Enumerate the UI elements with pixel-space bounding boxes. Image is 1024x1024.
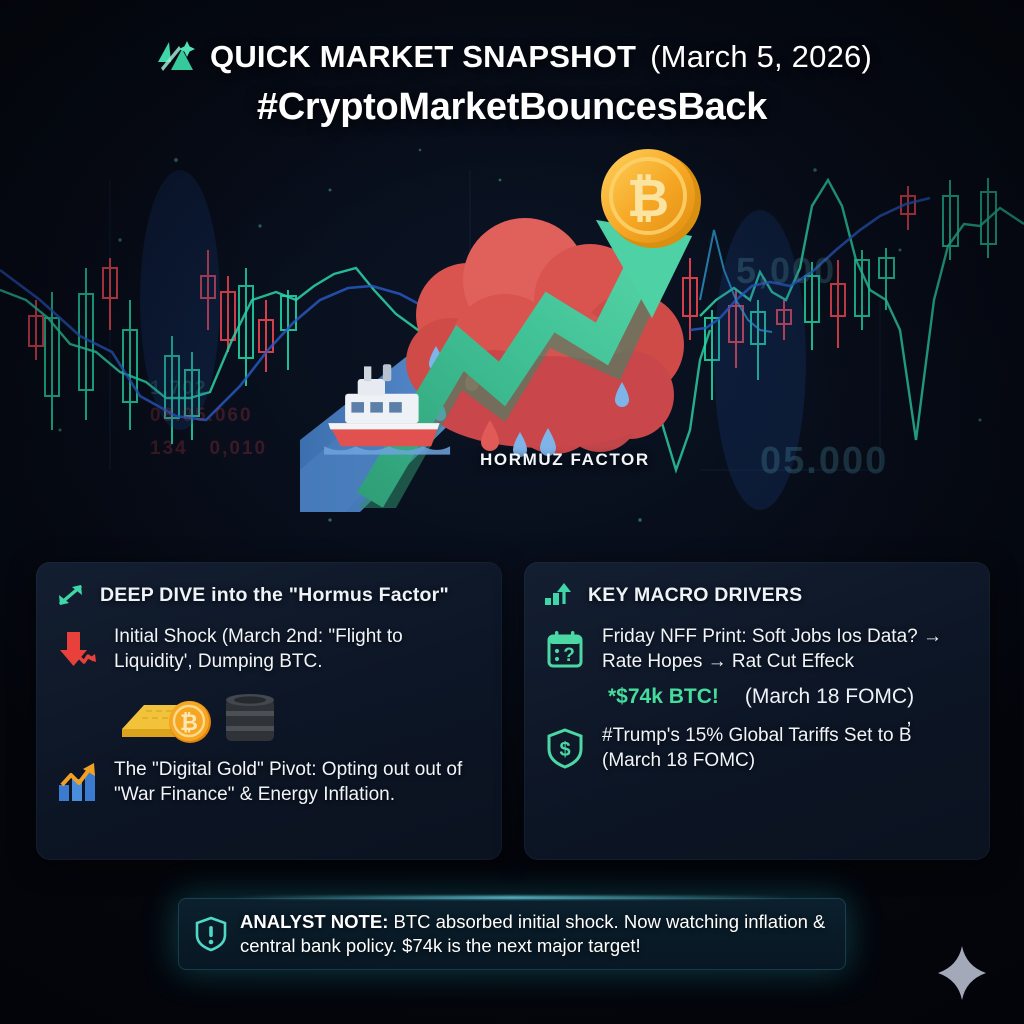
shield-dollar-icon: $ (542, 725, 588, 771)
analyst-note-label: ANALYST NOTE: (240, 911, 388, 932)
header: QUICK MARKET SNAPSHOT (March 5, 2026) #C… (0, 34, 1024, 129)
gold-bitcoin-oil-barrel-icon: ₿ (116, 685, 482, 743)
btc-target-value: *$74k BTC! (608, 685, 719, 709)
hero-illustration: ₿ (300, 140, 720, 540)
analyst-note-text: ANALYST NOTE: BTC absorbed initial shock… (240, 910, 830, 958)
calendar-question-icon: ? (542, 626, 588, 672)
diagonal-double-arrow-icon (54, 580, 88, 610)
bullet-text: Initial Shock (March 2nd: "Flight to Liq… (114, 624, 482, 675)
hashtag: #CryptoMarketBouncesBack (0, 86, 1024, 129)
snapshot-date: (March 5, 2026) (650, 39, 872, 75)
panel-header: KEY MACRO DRIVERS (542, 580, 970, 610)
btc-target-highlight: *$74k BTC! (March 18 FOMC) (608, 685, 970, 709)
shield-exclamation-icon (194, 915, 228, 953)
bullet-item: The "Digital Gold" Pivot: Opting out out… (54, 757, 482, 808)
bullet-text: Friday NFF Print: Soft Jobs Ios Data? → … (602, 624, 970, 675)
page-title: QUICK MARKET SNAPSHOT (210, 39, 636, 75)
four-point-star-icon (936, 944, 988, 1002)
fomc-date: (March 18 FOMC) (745, 685, 914, 709)
panel-deep-dive[interactable]: DEEP DIVE into the "Hormus Factor" Initi… (36, 562, 502, 860)
analyst-note-banner[interactable]: ANALYST NOTE: BTC absorbed initial shock… (178, 898, 846, 970)
panel-title: KEY MACRO DRIVERS (588, 584, 802, 607)
svg-text:$: $ (559, 739, 570, 761)
bullet-item: ? Friday NFF Print: Soft Jobs Ios Data? … (542, 624, 970, 675)
bullet-text: The "Digital Gold" Pivot: Opting out out… (114, 757, 482, 808)
svg-text:₿: ₿ (627, 170, 669, 228)
svg-text:?: ? (563, 645, 575, 666)
title-row: QUICK MARKET SNAPSHOT (March 5, 2026) (0, 34, 1024, 80)
bullet-text: #Trump's 15% Global Tariffs Set to B̕ (M… (602, 723, 970, 774)
bullet-item: $ #Trump's 15% Global Tariffs Set to B̕ … (542, 723, 970, 774)
svg-text:₿: ₿ (180, 710, 198, 735)
infographic-canvas: 5,000 05.000 1,702 08.05.060 134 0,010 Q… (0, 0, 1024, 1024)
triangles-sparkle-logo-icon (152, 36, 196, 80)
panel-title: DEEP DIVE into the "Hormus Factor" (100, 584, 449, 607)
panel-key-macro-drivers[interactable]: KEY MACRO DRIVERS ? Friday NFF Print: So… (524, 562, 990, 860)
bullet-item: Initial Shock (March 2nd: "Flight to Liq… (54, 624, 482, 675)
hero-label: HORMUZ FACTOR (480, 450, 650, 470)
red-down-arrow-trend-icon (54, 626, 100, 672)
bar-chart-up-arrow-icon (542, 580, 576, 610)
blue-bar-chart-rising-icon (54, 759, 100, 805)
panel-header: DEEP DIVE into the "Hormus Factor" (54, 580, 482, 610)
